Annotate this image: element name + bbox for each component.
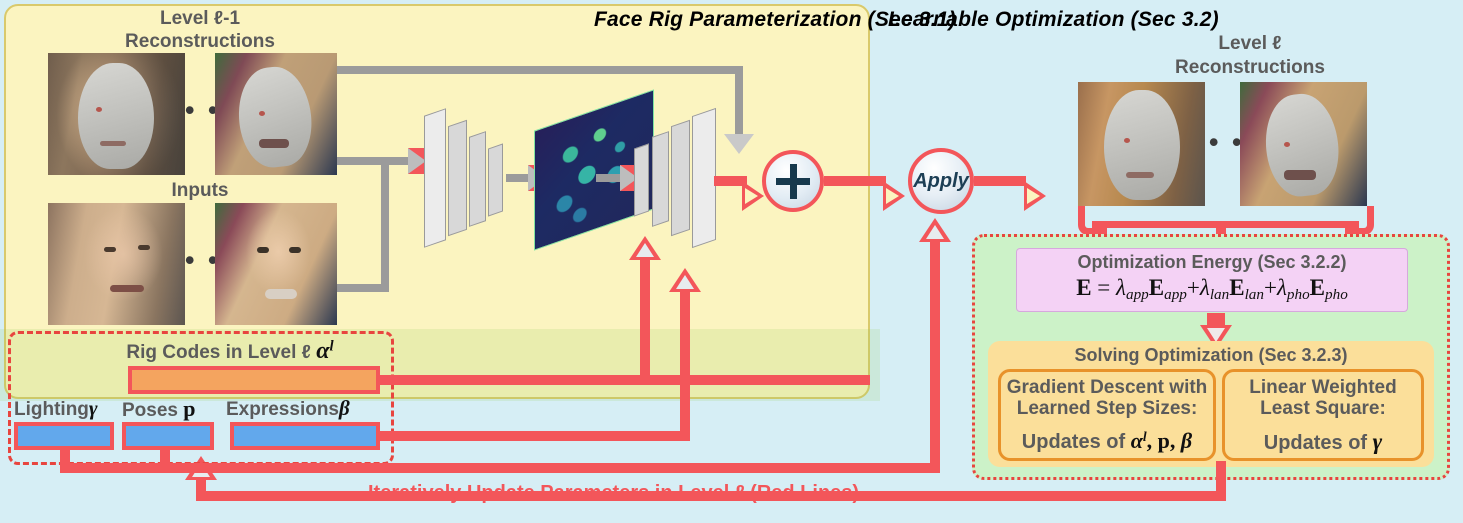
red-arrow-into-plus [742,181,764,211]
poses-symbol: p [183,396,195,421]
lighting-label: Lightingγ [8,396,134,421]
grey-skip-from-recon [337,66,743,74]
red-wire-plus-to-apply [824,176,886,186]
red-wire-expressions-h [376,431,690,441]
gradient-descent-line2: Learned Step Sizes: [1001,398,1213,419]
apply-node-label: Apply [913,170,969,193]
expressions-label: Expressionsβ [226,396,396,421]
reconstructions-label-right: Reconstructions [1100,57,1400,79]
red-wire-rigcodes-h [376,375,870,385]
decoder-slab-4 [692,108,716,248]
expressions-value-bar [230,422,380,450]
apply-node: Apply [908,148,974,214]
grey-wire-vertical [381,157,389,292]
optimization-energy-box: Optimization Energy (Sec 3.2.2) E = λapp… [1016,248,1408,312]
red-wire-expressions-up [680,290,690,438]
least-square-updates-symbols: γ [1373,429,1383,454]
recon-image-right-1 [1078,82,1205,206]
red-wire-param-bus [60,463,940,473]
expressions-symbol: β [339,396,350,420]
least-square-line1: Linear Weighted [1225,372,1421,398]
plus-vertical-bar [790,164,797,199]
red-return-corner [1206,481,1226,501]
red-arrow-into-decoder-1 [629,236,661,260]
encoder-slab-2 [448,120,467,237]
iterative-update-caption: Iteratively Update Parameters in Level ℓ… [368,482,859,505]
figure-canvas: Face Rig Parameterization (Sec 3.1) Lear… [0,0,1463,523]
recon-image-left-1 [48,53,185,175]
grey-arrow-into-plus [724,134,754,154]
red-bracket-drop [1216,221,1226,235]
red-arrow-into-apply [883,181,905,211]
poses-value-bar [122,422,214,450]
encoder-slab-3 [469,131,486,227]
rig-codes-symbol: αl [316,338,333,364]
red-wire-to-apply-up [930,240,940,468]
level-l-label: Level ℓ [1100,33,1400,55]
gradient-descent-updates: Updates of αl, p, β [1001,420,1213,454]
red-wire-rigcodes-up [640,258,650,378]
gradient-descent-box: Gradient Descent with Learned Step Sizes… [998,369,1216,461]
red-arrow-into-recon [1024,181,1046,211]
red-wire-apply-to-recon [974,176,1026,186]
gradient-descent-updates-prefix: Updates of [1022,431,1125,453]
rig-codes-value-bar [128,366,380,394]
grey-skip-vertical [735,66,743,139]
input-image-1 [48,203,185,325]
reconstructions-label-left: Reconstructions [60,31,340,53]
optimization-energy-formula: E = λappEapp+λlanElan+λphoEpho [1017,273,1407,304]
gradient-descent-updates-symbols: αl, p, β [1131,428,1193,453]
add-node [762,150,824,212]
recon-image-right-2 [1240,82,1367,206]
solving-optimization-title: Solving Optimization (Sec 3.2.3) [988,341,1434,366]
poses-label: Poses p [122,396,232,422]
decoder-slab-1 [634,143,649,216]
input-image-2 [215,203,337,325]
gradient-descent-line1: Gradient Descent with [1001,372,1213,398]
inputs-label: Inputs [60,180,340,202]
lighting-symbol: γ [89,396,98,420]
encoder-slab-4 [488,143,503,216]
least-square-updates-prefix: Updates of [1264,432,1367,454]
encoder-slab-1 [424,108,446,248]
least-square-updates: Updates of γ [1225,420,1421,455]
red-return-up-to-dashbox [196,478,206,496]
decoder-slab-2 [652,131,669,227]
least-square-box: Linear Weighted Least Square: Updates of… [1222,369,1424,461]
recon-image-left-2 [215,53,337,175]
optimization-energy-title: Optimization Energy (Sec 3.2.2) [1017,249,1407,273]
learnable-optimization-panel-title: Learnable Optimization (Sec 3.2) [888,8,1219,32]
level-lminus1-label: Level ℓ-1 [60,8,340,30]
red-wire-energy-to-solving [1207,313,1225,325]
red-arrow-into-apply-node [919,218,951,242]
rig-codes-label: Rig Codes in Level ℓ αl [100,338,360,365]
red-arrow-into-decoder-2 [669,268,701,292]
decoder-slab-3 [671,120,690,237]
lighting-value-bar [14,422,114,450]
least-square-line2: Least Square: [1225,398,1421,419]
